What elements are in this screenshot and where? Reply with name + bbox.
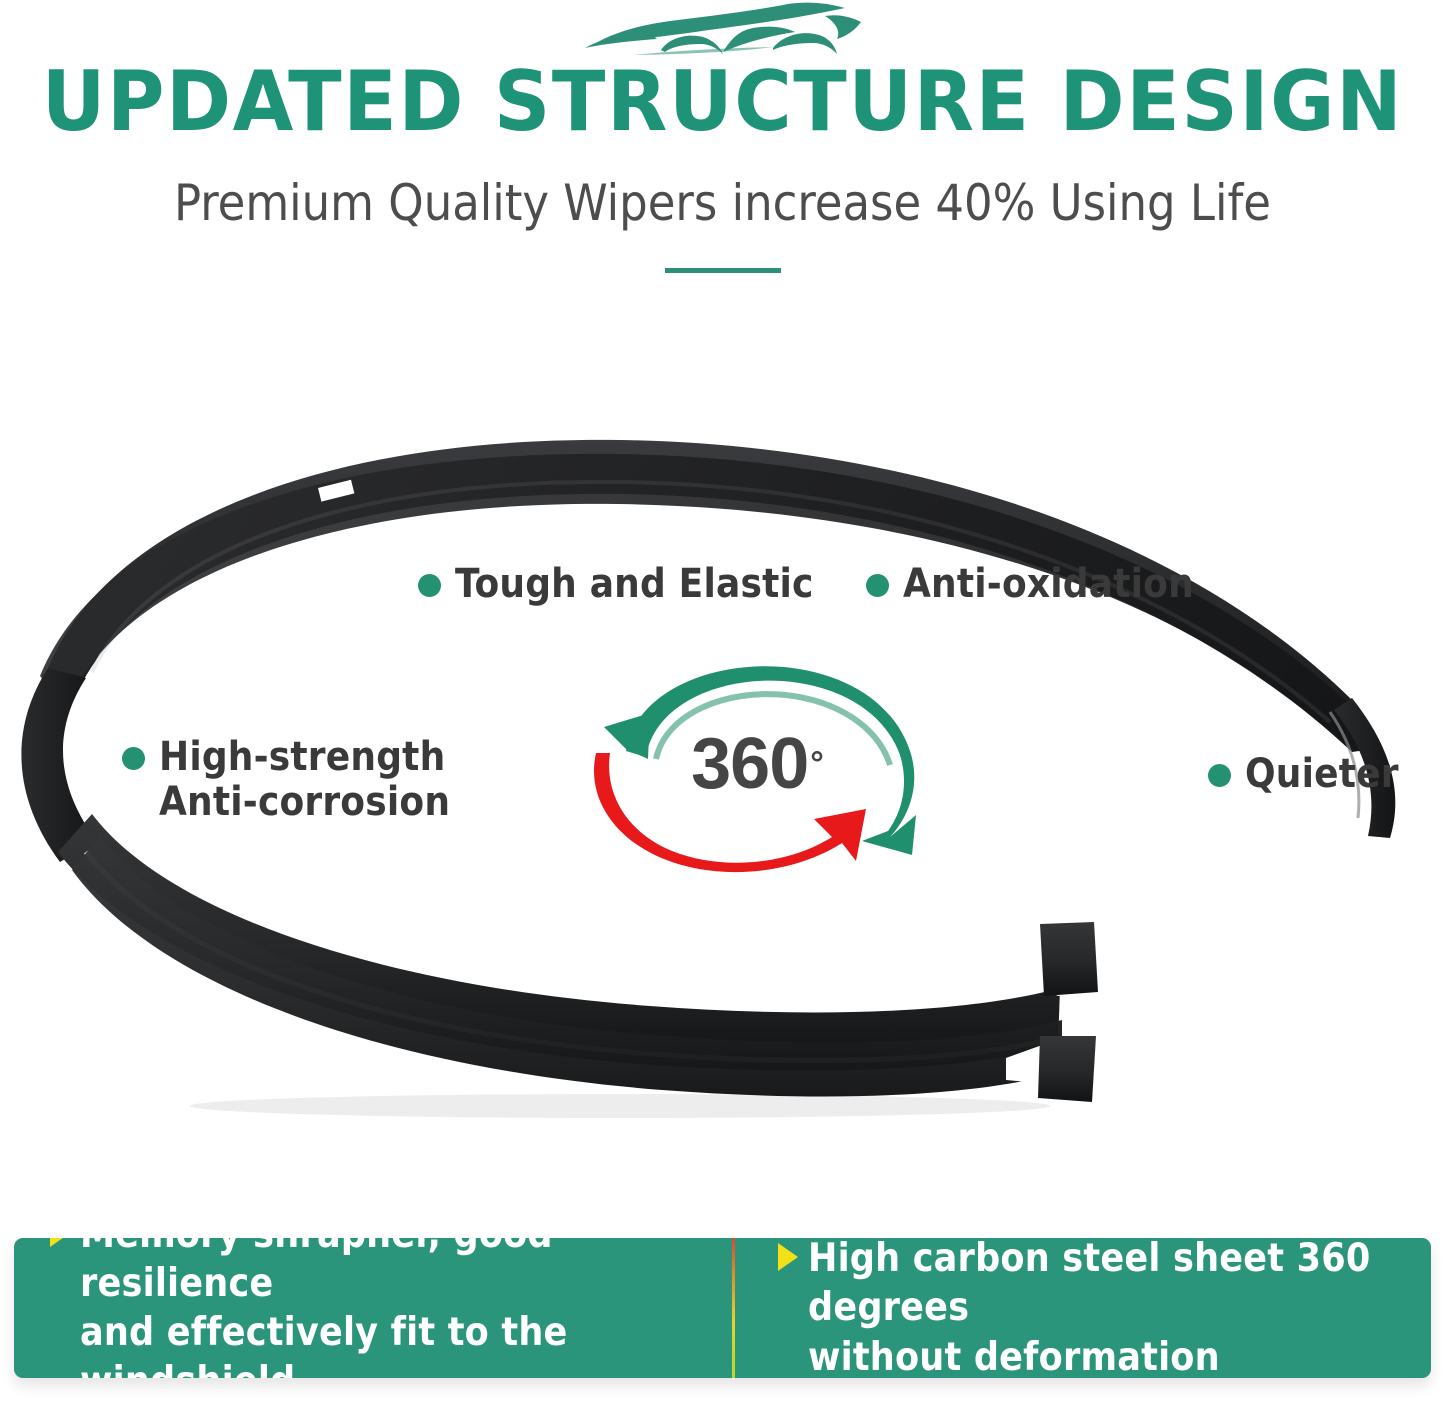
bottom-feature-banner: Memory shrapnel, good resilience and eff… bbox=[14, 1238, 1431, 1378]
feature-text: Anti-oxidation bbox=[903, 562, 1194, 607]
strip-end-lower bbox=[1038, 1036, 1096, 1102]
car-silhouette-icon bbox=[573, 2, 873, 58]
page-subtitle: Premium Quality Wipers increase 40% Usin… bbox=[0, 176, 1445, 231]
banner-right-item: High carbon steel sheet 360 degrees with… bbox=[778, 1238, 1431, 1378]
banner-left-line1: Memory shrapnel, good resilience bbox=[80, 1238, 732, 1308]
feature-label-high-strength-anti-corrosion: High-strength Anti-corrosion bbox=[122, 735, 450, 825]
strip-end-upper bbox=[1040, 922, 1098, 996]
feature-text-line1: High-strength bbox=[159, 734, 445, 780]
feature-label-anti-oxidation: Anti-oxidation bbox=[866, 562, 1194, 607]
feature-label-tough-and-elastic: Tough and Elastic bbox=[418, 562, 814, 607]
strip-lower-band-lower bbox=[72, 836, 1062, 1096]
bullet-dot-icon bbox=[1208, 764, 1231, 787]
feature-text: Tough and Elastic bbox=[455, 562, 814, 607]
page-title: UPDATED STRUCTURE DESIGN bbox=[0, 60, 1445, 145]
product-infographic: UPDATED STRUCTURE DESIGN Premium Quality… bbox=[0, 0, 1445, 1421]
bullet-dot-icon bbox=[122, 747, 145, 770]
bullet-dot-icon bbox=[418, 574, 441, 597]
360-degree-badge: 360° bbox=[570, 655, 930, 875]
banner-right-line2: without deformation bbox=[808, 1333, 1431, 1378]
triangle-arrow-icon bbox=[778, 1243, 798, 1271]
badge-number: 360 bbox=[691, 723, 808, 805]
banner-left-line2: and effectively fit to the windshield bbox=[80, 1308, 732, 1378]
feature-text-line2: Anti-corrosion bbox=[159, 780, 450, 825]
triangle-arrow-icon bbox=[50, 1238, 70, 1247]
badge-value: 360° bbox=[570, 655, 930, 875]
feature-text: Quieter bbox=[1245, 752, 1399, 797]
feature-label-quieter: Quieter bbox=[1208, 752, 1399, 797]
banner-left-column: Memory shrapnel, good resilience and eff… bbox=[14, 1238, 732, 1378]
feature-text: High-strength Anti-corrosion bbox=[159, 735, 450, 825]
product-shadow bbox=[190, 1094, 1050, 1118]
banner-right-text: High carbon steel sheet 360 degrees with… bbox=[808, 1238, 1431, 1378]
title-divider bbox=[665, 268, 781, 273]
bullet-dot-icon bbox=[866, 574, 889, 597]
banner-right-column: High carbon steel sheet 360 degrees with… bbox=[732, 1238, 1431, 1378]
banner-left-text: Memory shrapnel, good resilience and eff… bbox=[80, 1238, 732, 1378]
banner-left-item: Memory shrapnel, good resilience and eff… bbox=[50, 1238, 732, 1378]
banner-right-line1: High carbon steel sheet 360 degrees bbox=[808, 1238, 1431, 1333]
